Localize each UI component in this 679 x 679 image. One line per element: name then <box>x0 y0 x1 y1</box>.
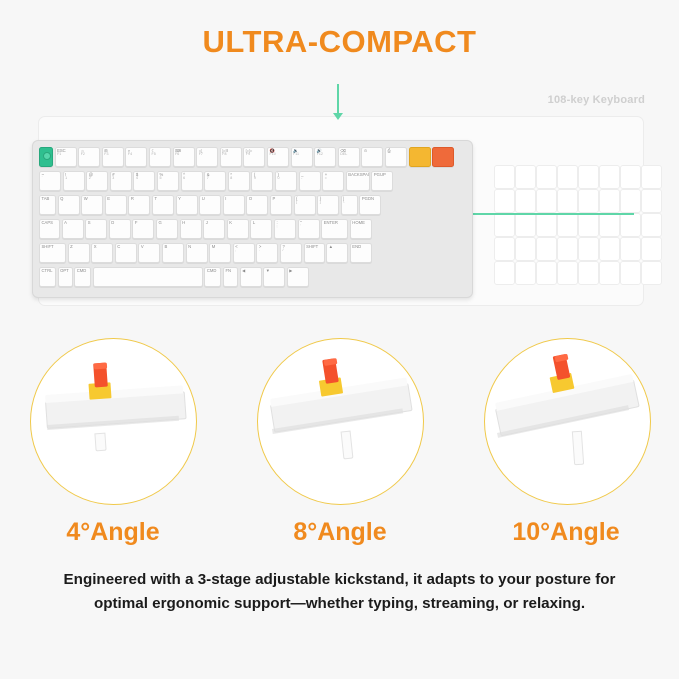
key-label-secondary: F1 <box>57 153 76 157</box>
key-label-secondary: 6 <box>183 177 202 181</box>
keyboard-key[interactable]: CTRL <box>39 267 56 287</box>
key-label-primary: E <box>107 196 110 201</box>
keyboard-key[interactable]: ⊞F3 <box>102 147 124 167</box>
key-label-secondary: F5 <box>152 153 171 157</box>
key-label-secondary: \ <box>343 201 357 205</box>
keyboard-key[interactable]: T <box>152 195 174 215</box>
keyboard-key[interactable]: ☼F2 <box>78 147 100 167</box>
ghost-key <box>536 237 557 261</box>
key-label-primary: HOME <box>352 220 365 225</box>
keyboard-key[interactable]: &7 <box>204 171 226 191</box>
ghost-key <box>578 261 599 285</box>
angle-illustration-4 <box>30 338 197 505</box>
ghost-key <box>641 237 662 261</box>
angle-label-4: 4°Angle <box>0 518 226 547</box>
key-label-primary: C <box>117 244 120 249</box>
keyboard-key[interactable]: F <box>132 219 154 239</box>
ghost-key <box>620 189 641 213</box>
keyboard-key[interactable]: ☾F5 <box>149 147 171 167</box>
key-label-secondary: - <box>301 177 320 181</box>
ghost-key <box>536 189 557 213</box>
ghost-key <box>578 165 599 189</box>
key-label-secondary: . <box>259 249 278 253</box>
angle-illustrations <box>0 338 679 518</box>
keyboard-key[interactable]: W <box>81 195 103 215</box>
keyboard-keys: ESCF1☼F2⊞F3⌕F4☾F5⌨F6◁F7▷IIF8▷▷F9🔇F10🔉F11… <box>37 145 468 293</box>
key-label-secondary: F4 <box>128 153 147 157</box>
keyboard-key[interactable]: ▷IIF8 <box>220 147 242 167</box>
ghost-key <box>578 189 599 213</box>
ghost-key <box>515 237 536 261</box>
keyboard-key[interactable]: %5 <box>157 171 179 191</box>
keyboard-key[interactable]: X <box>91 243 113 263</box>
key-label-primary: CMD <box>207 268 217 273</box>
ghost-key <box>557 213 578 237</box>
keyboard-key[interactable]: V <box>138 243 160 263</box>
full-size-keyboard-label: 108-key Keyboard <box>548 94 645 106</box>
keyboard-key[interactable]: S <box>85 219 107 239</box>
key-label-primary: R <box>131 196 134 201</box>
keyboard-key[interactable]: ▲ <box>326 243 348 263</box>
key-label-primary: O <box>249 196 252 201</box>
keyboard-key[interactable]: CMD <box>74 267 91 287</box>
keyboard-key[interactable]: N <box>186 243 208 263</box>
key-label-secondary: , <box>235 249 254 253</box>
key-label-secondary: F10 <box>270 153 289 157</box>
key-label-secondary: 2 <box>89 177 108 181</box>
ghost-key <box>599 237 620 261</box>
key-label-primary: J <box>206 220 208 225</box>
keyboard-side-view-10 <box>485 339 650 504</box>
key-label-primary: ▲ <box>329 244 333 249</box>
keyboard-key[interactable]: END <box>350 243 372 263</box>
key-label-primary: CMD <box>77 268 87 273</box>
keyboard-key[interactable]: G <box>156 219 178 239</box>
key-label-primary: OPT <box>60 268 69 273</box>
keyboard-key[interactable]: R <box>128 195 150 215</box>
keyboard-key[interactable]: O <box>246 195 268 215</box>
keyboard-key[interactable]: ~` <box>39 171 61 191</box>
keyboard-key[interactable]: ⌫DEL <box>338 147 360 167</box>
keyboard-key[interactable]: :; <box>274 219 296 239</box>
keyboard-key[interactable]: C <box>115 243 137 263</box>
angle-illustration-8 <box>257 338 424 505</box>
keyboard-key[interactable]: }] <box>317 195 339 215</box>
key-label-primary: K <box>229 220 232 225</box>
ghost-key <box>494 213 515 237</box>
key-label-secondary: ` <box>42 177 61 181</box>
key-label-primary: ▼ <box>266 268 270 273</box>
key-label-primary: P <box>273 196 276 201</box>
ghost-key <box>515 189 536 213</box>
key-label-secondary: F9 <box>246 153 265 157</box>
keyboard-key[interactable]: PGDN <box>359 195 381 215</box>
key-label-primary: CTRL <box>42 268 53 273</box>
key-label-primary: PGDN <box>362 196 374 201</box>
keyboard-key[interactable] <box>93 267 203 287</box>
key-label-secondary: / <box>283 249 302 253</box>
ghost-key <box>599 261 620 285</box>
keyboard-key[interactable]: CMD <box>204 267 221 287</box>
keyboard-key[interactable] <box>409 147 431 167</box>
keyboard-key[interactable]: K <box>227 219 249 239</box>
ghost-key <box>536 165 557 189</box>
key-label-primary: PGUP <box>374 172 386 177</box>
keyboard-key[interactable]: "' <box>298 219 320 239</box>
keyboard-key[interactable]: _- <box>299 171 321 191</box>
key-label-primary: N <box>188 244 191 249</box>
keyboard-key[interactable]: 🔉F11 <box>291 147 313 167</box>
keyboard-key[interactable]: A <box>62 219 84 239</box>
ghost-key <box>620 213 641 237</box>
ghost-key <box>557 189 578 213</box>
keyboard-key[interactable]: *8 <box>228 171 250 191</box>
keyboard-side-view-8 <box>258 339 423 504</box>
key-label-secondary: F2 <box>81 153 100 157</box>
key-label-primary: ◀ <box>242 268 245 273</box>
key-label-primary: ENTER <box>324 220 338 225</box>
key-label-primary: Q <box>60 196 63 201</box>
indicator-dot-icon <box>43 152 51 160</box>
caption-text: Engineered with a 3-stage adjustable kic… <box>42 568 637 615</box>
keyboard-key[interactable]: PGUP <box>371 171 393 191</box>
key-label-secondary: F11 <box>293 153 312 157</box>
key-label-secondary: ] <box>320 201 339 205</box>
ghost-key <box>641 165 662 189</box>
keyboard-key[interactable]: 🔊F12 <box>314 147 336 167</box>
key-label-primary: SHIFT <box>306 244 318 249</box>
ghost-key <box>557 237 578 261</box>
key-label-primary: Z <box>70 244 73 249</box>
keyboard-key[interactable]: OPT <box>58 267 73 287</box>
ghost-key <box>494 237 515 261</box>
key-label-primary: M <box>212 244 216 249</box>
keyboard-key[interactable]: @2 <box>86 171 108 191</box>
keyboard-key[interactable]: ▶ <box>287 267 309 287</box>
ghost-key <box>557 165 578 189</box>
keyboard-key[interactable]: ▷▷F9 <box>243 147 265 167</box>
key-label-primary: ▶ <box>289 268 292 273</box>
angle-labels: 4°Angle 8°Angle 10°Angle <box>0 518 679 558</box>
key-label-secondary: 1 <box>65 177 84 181</box>
keyboard-key[interactable]: {[ <box>294 195 316 215</box>
key-label-secondary: 7 <box>207 177 226 181</box>
keyboard-key[interactable]: ^6 <box>181 171 203 191</box>
key-label-primary: SHIFT <box>42 244 54 249</box>
keyboard-key[interactable]: E <box>105 195 127 215</box>
numpad-ghost-keys <box>494 165 669 293</box>
key-label-secondary: F6 <box>175 153 194 157</box>
key-label-secondary: F7 <box>199 153 218 157</box>
ghost-key <box>494 165 515 189</box>
key-label-primary: F <box>135 220 138 225</box>
keyboard-key[interactable]: L <box>250 219 272 239</box>
ghost-key <box>620 237 641 261</box>
keyboard-key[interactable]: |\ <box>341 195 358 215</box>
key-label-primary: T <box>155 196 158 201</box>
keyboard-key[interactable]: U <box>199 195 221 215</box>
key-label-secondary: ; <box>277 225 296 229</box>
key-label-primary: D <box>111 220 114 225</box>
keyboard-key[interactable] <box>39 147 53 167</box>
keyboard-key[interactable]: B <box>162 243 184 263</box>
ghost-key <box>641 213 662 237</box>
key-label-secondary: ' <box>300 225 319 229</box>
ghost-key <box>578 237 599 261</box>
keyboard-key[interactable]: ▼ <box>263 267 285 287</box>
keyboard-key[interactable]: M <box>209 243 231 263</box>
keyboard-key[interactable]: I <box>223 195 245 215</box>
page-title: ULTRA-COMPACT <box>0 24 679 60</box>
angle-illustration-10 <box>484 338 651 505</box>
ghost-key <box>494 189 515 213</box>
keyboard-key[interactable]: ⊙ <box>361 147 383 167</box>
keyboard-key[interactable]: SHIFT <box>304 243 325 263</box>
compact-keyboard: ESCF1☼F2⊞F3⌕F4☾F5⌨F6◁F7▷IIF8▷▷F9🔇F10🔉F11… <box>32 140 473 298</box>
key-label-primary: ⊙ <box>364 148 368 153</box>
keyboard-key[interactable]: Y <box>176 195 198 215</box>
keyboard-key[interactable]: $4 <box>133 171 155 191</box>
keyboard-key[interactable]: Q <box>58 195 80 215</box>
key-label-secondary: F12 <box>317 153 336 157</box>
key-label-primary: BACKSPACE <box>348 172 370 177</box>
key-label-primary: V <box>141 244 144 249</box>
key-label-secondary: 9 <box>254 177 273 181</box>
keyboard-key[interactable]: ⌕F4 <box>125 147 147 167</box>
keyboard-side-view-4 <box>31 339 196 504</box>
keyboard-key[interactable]: !1 <box>63 171 85 191</box>
keyboard-key[interactable]: SHIFT <box>39 243 66 263</box>
keyboard-key[interactable]: <, <box>233 243 255 263</box>
kickstand-leg <box>572 431 584 466</box>
keyboard-key[interactable]: (9 <box>251 171 273 191</box>
key-label-secondary: 5 <box>160 177 179 181</box>
key-label-secondary: 8 <box>230 177 249 181</box>
key-label-primary: CAPS <box>42 220 53 225</box>
switch-red-top <box>94 363 107 370</box>
key-label-primary: END <box>352 244 361 249</box>
keyboard-key[interactable]: H <box>180 219 202 239</box>
keyboard-key[interactable]: ◀ <box>240 267 262 287</box>
key-label-primary: W <box>84 196 88 201</box>
ghost-key <box>620 261 641 285</box>
angle-label-8: 8°Angle <box>227 518 453 547</box>
key-label-secondary: DEL <box>340 153 359 157</box>
ghost-key <box>599 189 620 213</box>
ghost-key <box>578 213 599 237</box>
keyboard-key[interactable]: ⌨F6 <box>173 147 195 167</box>
ghost-key <box>515 261 536 285</box>
key-label-primary: G <box>159 220 162 225</box>
ghost-key <box>557 261 578 285</box>
key-label-primary: S <box>88 220 91 225</box>
compare-arrow-down-icon <box>337 84 339 114</box>
angle-label-10: 10°Angle <box>453 518 679 547</box>
keyboard-key[interactable]: CAPS <box>39 219 60 239</box>
key-label-primary: TAB <box>42 196 50 201</box>
ghost-key <box>494 261 515 285</box>
key-label-primary: U <box>202 196 205 201</box>
key-label-secondary: 4 <box>136 177 155 181</box>
key-label-secondary: [ <box>296 201 315 205</box>
keyboard-key[interactable]: += <box>322 171 344 191</box>
keyboard-key[interactable]: ?/ <box>280 243 302 263</box>
compare-arrow-left-icon <box>466 213 634 215</box>
kickstand-leg <box>341 431 354 460</box>
ghost-key <box>599 165 620 189</box>
keyboard-key[interactable]: ESCF1 <box>55 147 77 167</box>
keyboard-key[interactable]: )0 <box>275 171 297 191</box>
keyboard-key[interactable] <box>432 147 454 167</box>
keyboard-key[interactable]: #3 <box>110 171 132 191</box>
keyboard-key[interactable]: >. <box>256 243 278 263</box>
key-label-secondary: F8 <box>222 153 241 157</box>
keyboard-key[interactable]: 🔇F10 <box>267 147 289 167</box>
keyboard-key[interactable]: Z <box>68 243 90 263</box>
product-infographic: ULTRA-COMPACT 108-key Keyboard ESCF1☼F2⊞… <box>0 0 679 679</box>
keyboard-key[interactable]: ⎙ <box>385 147 407 167</box>
ghost-key <box>620 165 641 189</box>
key-label-primary: Y <box>178 196 181 201</box>
keyboard-key[interactable]: ENTER <box>321 219 348 239</box>
hero-section: 108-key Keyboard ESCF1☼F2⊞F3⌕F4☾F5⌨F6◁F7… <box>0 82 679 332</box>
key-label-primary: H <box>182 220 185 225</box>
keyboard-key[interactable]: TAB <box>39 195 56 215</box>
key-label-primary: A <box>64 220 67 225</box>
keyboard-key[interactable]: BACKSPACE <box>346 171 370 191</box>
keyboard-key[interactable]: FN <box>223 267 238 287</box>
ghost-key <box>515 213 536 237</box>
ghost-key <box>536 213 557 237</box>
key-label-primary: X <box>94 244 97 249</box>
keyboard-key[interactable]: D <box>109 219 131 239</box>
key-label-secondary: 3 <box>112 177 131 181</box>
ghost-key <box>641 189 662 213</box>
key-label-primary: B <box>165 244 168 249</box>
ghost-key <box>641 261 662 285</box>
key-label-primary: ⎙ <box>388 148 391 153</box>
key-label-primary: I <box>225 196 226 201</box>
ghost-key <box>515 165 536 189</box>
key-label-primary: FN <box>226 268 232 273</box>
key-label-primary: L <box>253 220 255 225</box>
keyboard-key[interactable]: J <box>203 219 225 239</box>
ghost-key <box>536 261 557 285</box>
key-label-secondary: 0 <box>278 177 297 181</box>
key-label-secondary: F3 <box>104 153 123 157</box>
ghost-key <box>599 213 620 237</box>
keyboard-key[interactable]: ◁F7 <box>196 147 218 167</box>
key-label-secondary: = <box>325 177 344 181</box>
keyboard-key[interactable]: P <box>270 195 292 215</box>
kickstand-leg <box>94 433 106 452</box>
keyboard-key[interactable]: HOME <box>350 219 372 239</box>
